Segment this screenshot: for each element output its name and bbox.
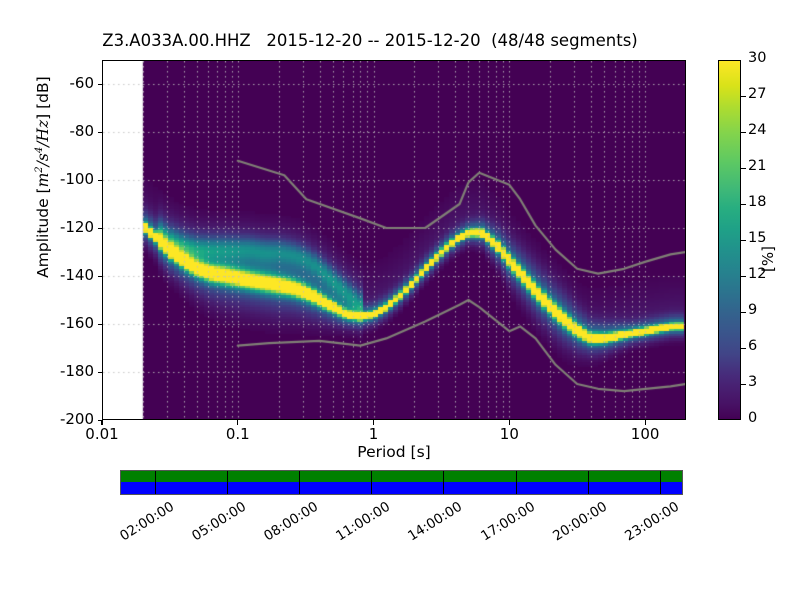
colorbar-tick-mark xyxy=(741,168,746,169)
y-axis-tick-mark xyxy=(98,324,103,325)
y-axis-tick-label: -160 xyxy=(52,314,94,332)
timeline-tick-label: 14:00:00 xyxy=(406,499,465,544)
ppsd-heatmap-canvas xyxy=(103,61,685,419)
timeline-tick-label: 17:00:00 xyxy=(478,499,537,544)
data-coverage-timeline[interactable] xyxy=(120,470,683,495)
x-axis-tick-mark xyxy=(101,420,102,425)
colorbar-tick-mark xyxy=(741,132,746,133)
colorbar-tick-label: 24 xyxy=(748,122,766,138)
timeline-tick-label: 05:00:00 xyxy=(189,499,248,544)
colorbar-tick-mark xyxy=(741,348,746,349)
timeline-tick-mark xyxy=(155,471,156,494)
x-axis-tick-mark xyxy=(373,420,374,425)
x-axis-tick-label: 0.01 xyxy=(67,425,137,443)
timeline-tick-mark xyxy=(516,471,517,494)
timeline-tick-mark xyxy=(660,471,661,494)
colorbar-tick-mark xyxy=(741,312,746,313)
colorbar-tick-mark xyxy=(741,204,746,205)
colorbar-tick-label: 6 xyxy=(748,338,757,354)
colorbar xyxy=(718,60,741,420)
x-axis-tick-label: 0.1 xyxy=(203,425,273,443)
y-axis-tick-label: -80 xyxy=(52,122,94,140)
y-axis-tick-label: -60 xyxy=(52,74,94,92)
y-axis-tick-mark xyxy=(98,372,103,373)
coverage-band-green xyxy=(121,471,682,482)
colorbar-tick-label: 27 xyxy=(748,86,766,102)
colorbar-label: [%] xyxy=(759,194,777,324)
y-axis-tick-mark xyxy=(98,84,103,85)
figure-title: Z3.A033A.00.HHZ 2015-12-20 -- 2015-12-20… xyxy=(0,31,740,50)
y-axis-tick-mark xyxy=(98,276,103,277)
x-axis-tick-label: 100 xyxy=(610,425,680,443)
y-axis-tick-mark xyxy=(98,132,103,133)
colorbar-tick-mark xyxy=(741,276,746,277)
y-axis-label: Amplitude [m2/s4/Hz] [dB] xyxy=(34,12,52,342)
colorbar-tick-label: 30 xyxy=(748,50,766,66)
y-axis-tick-mark xyxy=(98,180,103,181)
timeline-tick-label: 23:00:00 xyxy=(622,499,681,544)
y-axis-label-prefix: Amplitude [ xyxy=(34,187,52,277)
x-axis-tick-label: 1 xyxy=(339,425,409,443)
x-axis-label: Period [s] xyxy=(102,443,686,461)
colorbar-tick-mark xyxy=(741,240,746,241)
x-axis-tick-label: 10 xyxy=(474,425,544,443)
timeline-tick-mark xyxy=(299,471,300,494)
x-axis-tick-mark xyxy=(645,420,646,425)
y-axis-tick-label: -140 xyxy=(52,266,94,284)
timeline-tick-mark xyxy=(443,471,444,494)
timeline-tick-label: 20:00:00 xyxy=(550,499,609,544)
colorbar-tick-mark xyxy=(741,384,746,385)
y-axis-label-suffix: ] [dB] xyxy=(34,76,52,120)
timeline-tick-mark xyxy=(371,471,372,494)
ppsd-axes xyxy=(102,60,686,420)
ppsd-figure: Z3.A033A.00.HHZ 2015-12-20 -- 2015-12-20… xyxy=(0,0,800,600)
y-axis-tick-mark xyxy=(98,228,103,229)
x-axis-tick-mark xyxy=(509,420,510,425)
colorbar-tick-mark xyxy=(741,96,746,97)
y-axis-tick-label: -100 xyxy=(52,170,94,188)
y-axis-tick-label: -180 xyxy=(52,362,94,380)
timeline-tick-mark xyxy=(588,471,589,494)
colorbar-tick-label: 9 xyxy=(748,302,757,318)
y-axis-label-math: m2/s4/Hz xyxy=(34,120,52,188)
colorbar-tick-label: 3 xyxy=(748,374,757,390)
timeline-tick-label: 02:00:00 xyxy=(117,499,176,544)
coverage-band-blue xyxy=(121,482,682,494)
timeline-tick-label: 11:00:00 xyxy=(333,499,392,544)
colorbar-tick-label: 21 xyxy=(748,158,766,174)
timeline-tick-mark xyxy=(227,471,228,494)
y-axis-tick-label: -120 xyxy=(52,218,94,236)
timeline-tick-label: 08:00:00 xyxy=(261,499,320,544)
colorbar-tick-label: 0 xyxy=(748,410,757,426)
x-axis-tick-mark xyxy=(237,420,238,425)
